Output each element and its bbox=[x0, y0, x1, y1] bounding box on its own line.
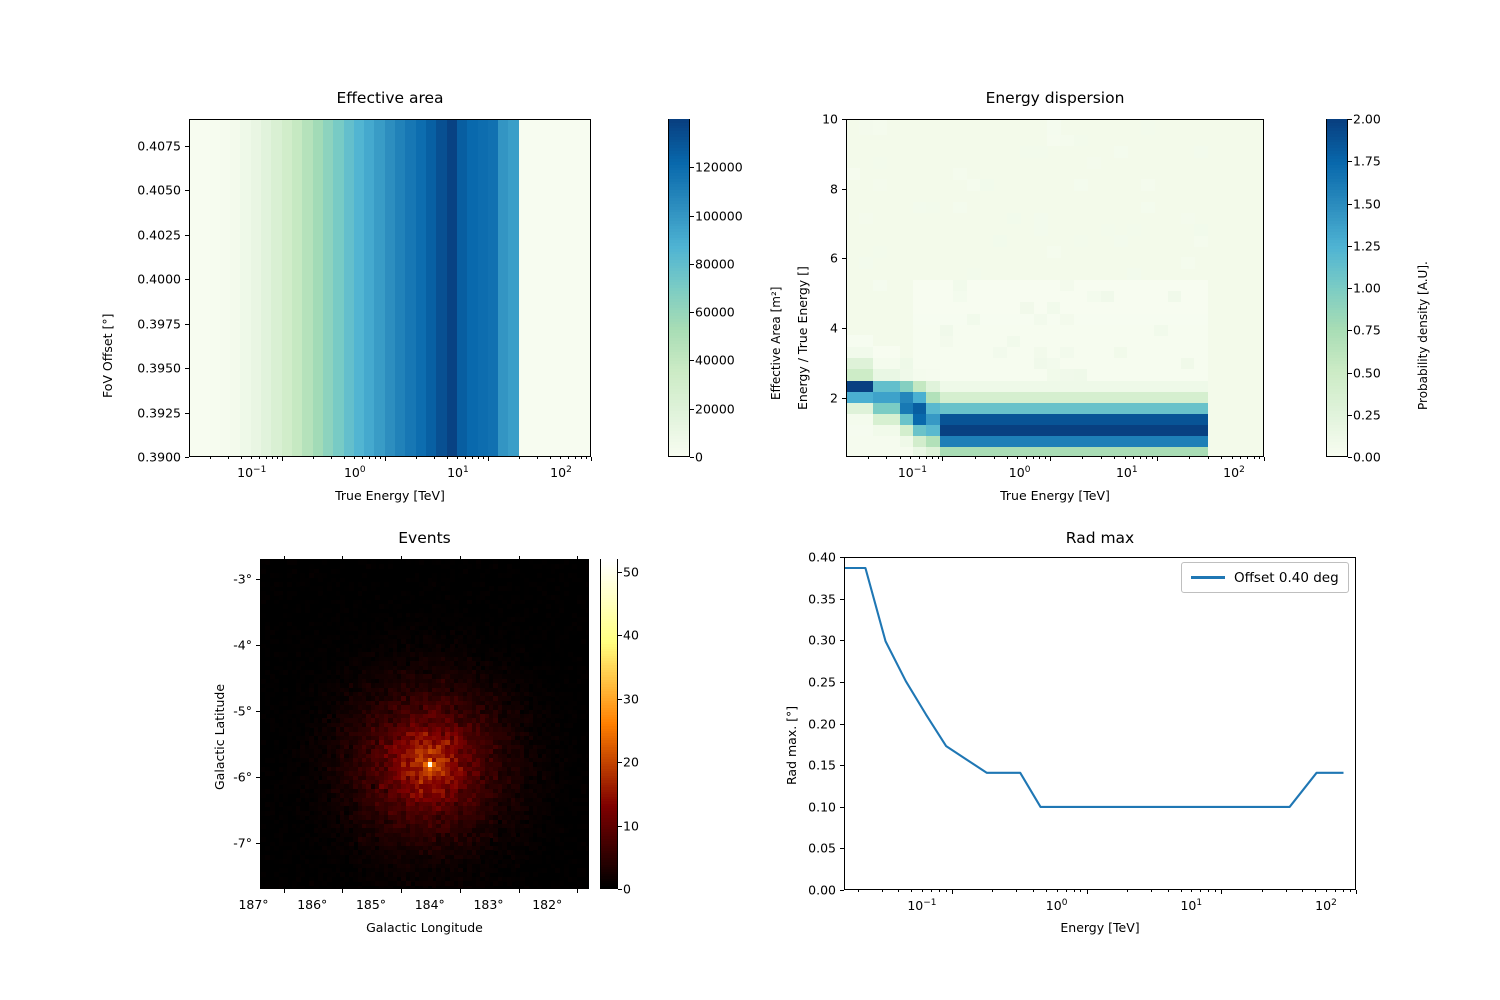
energy-dispersion-cell bbox=[1101, 369, 1115, 381]
events-pixel bbox=[537, 564, 542, 569]
energy-dispersion-cell bbox=[1154, 358, 1168, 370]
effective-area-colorbar-tick-label: 60000 bbox=[695, 305, 765, 320]
energy-dispersion-cell bbox=[1060, 335, 1074, 347]
energy-dispersion-cell bbox=[846, 447, 860, 457]
energy-dispersion-cell bbox=[873, 120, 887, 135]
rad-max-xlabel: Energy [TeV] bbox=[844, 920, 1356, 935]
energy-dispersion-cell bbox=[1007, 335, 1021, 347]
events-pixel bbox=[564, 639, 569, 644]
energy-dispersion-cell bbox=[1047, 425, 1061, 437]
energy-dispersion-colorbar-tick-mark bbox=[1348, 415, 1352, 416]
events-pixel bbox=[261, 824, 266, 829]
energy-dispersion-cell bbox=[1114, 391, 1128, 403]
energy-dispersion-cell bbox=[953, 436, 967, 448]
events-colorbar-tick-label: 10 bbox=[623, 818, 663, 833]
energy-dispersion-cell bbox=[1141, 391, 1155, 403]
events-pixel bbox=[274, 820, 279, 825]
events-pixel bbox=[270, 771, 275, 776]
effective-area-bin bbox=[302, 120, 313, 456]
effective-area-colorbar-tick-mark bbox=[690, 312, 694, 313]
energy-dispersion-cell bbox=[1181, 313, 1195, 325]
energy-dispersion-cell bbox=[900, 391, 914, 403]
energy-dispersion-cell bbox=[1194, 380, 1208, 392]
effective-area-xtick-minor bbox=[354, 457, 355, 459]
energy-dispersion-cell bbox=[913, 280, 927, 292]
energy-dispersion-xtick-minor bbox=[919, 457, 920, 459]
energy-dispersion-cell bbox=[993, 346, 1007, 358]
energy-dispersion-cell bbox=[926, 324, 940, 336]
effective-area-xtick-mark bbox=[591, 457, 592, 461]
energy-dispersion-cell bbox=[1101, 291, 1115, 303]
energy-dispersion-cell bbox=[993, 280, 1007, 292]
events-pixel bbox=[314, 600, 319, 605]
events-ytick-label: -6° bbox=[212, 769, 252, 784]
rad-max-ytick-mark bbox=[840, 765, 844, 766]
energy-dispersion-xtick-minor bbox=[1033, 457, 1034, 459]
effective-area-bin bbox=[282, 120, 293, 456]
energy-dispersion-cell bbox=[1181, 358, 1195, 370]
energy-dispersion-cell bbox=[913, 358, 927, 370]
energy-dispersion-cell bbox=[1074, 413, 1088, 425]
events-pixel bbox=[265, 886, 270, 889]
energy-dispersion-cell bbox=[913, 413, 927, 425]
energy-dispersion-cell bbox=[1060, 369, 1074, 381]
energy-dispersion-cell bbox=[940, 324, 954, 336]
energy-dispersion-colorbar-label: Probability density [A.U]. bbox=[1416, 261, 1430, 410]
energy-dispersion-cell bbox=[886, 413, 900, 425]
energy-dispersion-cell bbox=[1060, 425, 1074, 437]
rad-max-ytick-label: 0.05 bbox=[782, 841, 836, 856]
events-pixel bbox=[537, 859, 542, 864]
energy-dispersion-cell bbox=[1181, 346, 1195, 358]
energy-dispersion-cell bbox=[993, 380, 1007, 392]
events-pixel bbox=[261, 600, 266, 605]
energy-dispersion-cell bbox=[1141, 380, 1155, 392]
energy-dispersion-cell bbox=[1101, 425, 1115, 437]
events-pixel bbox=[568, 723, 573, 728]
effective-area-bin bbox=[189, 120, 200, 456]
events-colorbar-tick-label: 20 bbox=[623, 755, 663, 770]
energy-dispersion-cell bbox=[1181, 402, 1195, 414]
energy-dispersion-colorbar-tick-label: 2.00 bbox=[1353, 112, 1413, 127]
energy-dispersion-cell bbox=[873, 391, 887, 403]
energy-dispersion-cell bbox=[1034, 313, 1048, 325]
rad-max-ytick-mark bbox=[840, 557, 844, 558]
energy-dispersion-cell bbox=[1020, 335, 1034, 347]
energy-dispersion-cell bbox=[1074, 313, 1088, 325]
energy-dispersion-cell bbox=[859, 369, 873, 381]
energy-dispersion-colorbar-tick-mark bbox=[1348, 288, 1352, 289]
events-pixel bbox=[564, 886, 569, 889]
effective-area-ylabel: FoV Offset [°] bbox=[100, 314, 115, 398]
effective-area-bin bbox=[498, 120, 509, 456]
effective-area-bin bbox=[199, 120, 210, 456]
rad-max-series-line bbox=[845, 568, 1344, 807]
events-ytick-mark bbox=[256, 579, 260, 580]
events-xtick-mark-top bbox=[284, 556, 285, 560]
energy-dispersion-colorbar-tick-mark bbox=[1348, 330, 1352, 331]
events-pixel bbox=[419, 560, 424, 565]
events-pixel bbox=[388, 886, 393, 889]
events-pixel bbox=[586, 595, 589, 600]
events-plot-area bbox=[260, 559, 589, 889]
energy-dispersion-cell bbox=[953, 358, 967, 370]
energy-dispersion-cell bbox=[1154, 413, 1168, 425]
energy-dispersion-cell bbox=[1168, 358, 1182, 370]
energy-dispersion-cell bbox=[859, 402, 873, 414]
energy-dispersion-cell bbox=[846, 380, 860, 392]
events-pixel bbox=[406, 600, 411, 605]
events-xtick-mark-top bbox=[460, 556, 461, 560]
energy-dispersion-cell bbox=[1034, 335, 1048, 347]
energy-dispersion-cell bbox=[1074, 358, 1088, 370]
effective-area-bin bbox=[323, 120, 334, 456]
energy-dispersion-cell bbox=[1168, 425, 1182, 437]
energy-dispersion-cell bbox=[1060, 324, 1074, 336]
events-pixel bbox=[480, 582, 485, 587]
effective-area-bin bbox=[519, 120, 530, 456]
events-pixel bbox=[265, 560, 270, 565]
energy-dispersion-cell bbox=[1020, 302, 1034, 314]
events-pixel bbox=[375, 582, 380, 587]
energy-dispersion-ytick-mark bbox=[842, 258, 846, 259]
energy-dispersion-cell bbox=[846, 346, 860, 358]
effective-area-xtick-minor bbox=[266, 457, 267, 459]
events-pixel bbox=[467, 564, 472, 569]
energy-dispersion-cell bbox=[1087, 402, 1101, 414]
energy-dispersion-cell bbox=[873, 369, 887, 381]
energy-dispersion-xtick-minor bbox=[1189, 457, 1190, 459]
events-pixel bbox=[559, 564, 564, 569]
energy-dispersion-title: Energy dispersion bbox=[846, 89, 1264, 107]
energy-dispersion-cell bbox=[993, 335, 1007, 347]
energy-dispersion-cell bbox=[1114, 235, 1128, 247]
effective-area-ytick-mark bbox=[185, 324, 189, 325]
events-pixel bbox=[279, 657, 284, 662]
events-pixel bbox=[283, 881, 288, 886]
energy-dispersion-cell bbox=[926, 369, 940, 381]
events-pixel bbox=[511, 886, 516, 889]
events-pixel bbox=[366, 600, 371, 605]
energy-dispersion-cell bbox=[1114, 369, 1128, 381]
energy-dispersion-cell bbox=[1114, 313, 1128, 325]
events-xtick-mark bbox=[401, 889, 402, 893]
events-pixel bbox=[586, 608, 589, 613]
effective-area-xtick-minor bbox=[228, 457, 229, 459]
energy-dispersion-cell bbox=[1101, 280, 1115, 292]
effective-area-colorbar-tick-mark bbox=[690, 360, 694, 361]
energy-dispersion-cell bbox=[1034, 346, 1048, 358]
effective-area-bin bbox=[447, 120, 458, 456]
energy-dispersion-cell bbox=[993, 447, 1007, 457]
energy-dispersion-xtick-minor bbox=[1125, 457, 1126, 459]
energy-dispersion-cell bbox=[1194, 447, 1208, 457]
events-pixel bbox=[586, 674, 589, 679]
events-pixel bbox=[476, 564, 481, 569]
energy-dispersion-cell bbox=[1087, 291, 1101, 303]
energy-dispersion-cell bbox=[1114, 291, 1128, 303]
energy-dispersion-cell bbox=[900, 413, 914, 425]
energy-dispersion-cell bbox=[1141, 447, 1155, 457]
events-pixel bbox=[559, 855, 564, 860]
energy-dispersion-cell bbox=[913, 425, 927, 437]
effective-area-bin bbox=[457, 120, 468, 456]
energy-dispersion-cell bbox=[1060, 291, 1074, 303]
effective-area-title: Effective area bbox=[189, 89, 591, 107]
effective-area-xtick-minor bbox=[277, 457, 278, 459]
energy-dispersion-cell bbox=[913, 447, 927, 457]
events-pixel bbox=[283, 868, 288, 873]
energy-dispersion-cell bbox=[886, 346, 900, 358]
energy-dispersion-cell bbox=[1127, 447, 1141, 457]
energy-dispersion-ytick-label: 6 bbox=[798, 251, 838, 266]
energy-dispersion-cell bbox=[1101, 302, 1115, 314]
events-pixel bbox=[572, 564, 577, 569]
events-pixel bbox=[546, 604, 551, 609]
effective-area-xtick-minor bbox=[568, 457, 569, 459]
energy-dispersion-cell bbox=[1154, 313, 1168, 325]
energy-dispersion-cell bbox=[1114, 413, 1128, 425]
energy-dispersion-cell bbox=[940, 313, 954, 325]
effective-area-xtick-minor bbox=[331, 457, 332, 459]
energy-dispersion-cell bbox=[886, 447, 900, 457]
events-pixel bbox=[559, 608, 564, 613]
events-pixel bbox=[265, 595, 270, 600]
energy-dispersion-cell bbox=[1168, 436, 1182, 448]
events-pixel bbox=[371, 586, 376, 591]
energy-dispersion-cell bbox=[926, 436, 940, 448]
energy-dispersion-cell bbox=[1114, 436, 1128, 448]
effective-area-bin bbox=[508, 120, 519, 456]
energy-dispersion-cell bbox=[859, 213, 873, 225]
energy-dispersion-cell bbox=[1154, 324, 1168, 336]
energy-dispersion-cell bbox=[953, 346, 967, 358]
energy-dispersion-cell bbox=[913, 335, 927, 347]
energy-dispersion-xtick-label: 102 bbox=[1204, 465, 1264, 480]
events-ytick-mark bbox=[256, 645, 260, 646]
energy-dispersion-cell bbox=[953, 202, 967, 214]
energy-dispersion-cell bbox=[1194, 335, 1208, 347]
events-pixel bbox=[445, 586, 450, 591]
events-pixel bbox=[274, 688, 279, 693]
energy-dispersion-cell bbox=[1127, 425, 1141, 437]
events-pixel bbox=[292, 569, 297, 574]
energy-dispersion-cell bbox=[940, 369, 954, 381]
events-pixel bbox=[261, 872, 266, 877]
rad-max-ytick-mark bbox=[840, 682, 844, 683]
energy-dispersion-cell bbox=[1194, 346, 1208, 358]
energy-dispersion-cell bbox=[1060, 402, 1074, 414]
events-pixel bbox=[283, 701, 288, 706]
energy-dispersion-cell bbox=[980, 413, 994, 425]
events-pixel bbox=[331, 872, 336, 877]
energy-dispersion-cell bbox=[1034, 436, 1048, 448]
events-pixel bbox=[537, 670, 542, 675]
energy-dispersion-cell bbox=[926, 402, 940, 414]
energy-dispersion-cell bbox=[1101, 324, 1115, 336]
energy-dispersion-cell bbox=[1074, 391, 1088, 403]
effective-area-xtick-mark bbox=[488, 457, 489, 461]
rad-max-ytick-label: 0.35 bbox=[782, 591, 836, 606]
events-pixel bbox=[507, 586, 512, 591]
energy-dispersion-cell bbox=[967, 436, 981, 448]
energy-dispersion-cell bbox=[1034, 369, 1048, 381]
events-xtick-mark bbox=[460, 889, 461, 893]
events-xtick-mark bbox=[342, 889, 343, 893]
energy-dispersion-xtick-minor bbox=[910, 457, 911, 459]
events-pixel bbox=[542, 868, 547, 873]
energy-dispersion-cell bbox=[953, 425, 967, 437]
effective-area-plot-area bbox=[189, 119, 591, 457]
energy-dispersion-cell bbox=[967, 179, 981, 191]
energy-dispersion-colorbar-tick-label: 1.75 bbox=[1353, 154, 1413, 169]
energy-dispersion-cell bbox=[980, 280, 994, 292]
effective-area-ytick-label: 0.4050 bbox=[119, 183, 181, 198]
energy-dispersion-cell bbox=[1194, 358, 1208, 370]
effective-area-ytick-mark bbox=[185, 190, 189, 191]
energy-dispersion-cell bbox=[953, 402, 967, 414]
energy-dispersion-cell bbox=[1141, 179, 1155, 191]
energy-dispersion-ytick-label: 4 bbox=[798, 321, 838, 336]
events-pixel bbox=[358, 886, 363, 889]
events-pixel bbox=[581, 789, 586, 794]
energy-dispersion-cell bbox=[953, 324, 967, 336]
energy-dispersion-cell bbox=[940, 447, 954, 457]
effective-area-ytick-label: 0.4025 bbox=[119, 227, 181, 242]
energy-dispersion-cell bbox=[967, 335, 981, 347]
effective-area-xtick-minor bbox=[483, 457, 484, 459]
energy-dispersion-cell bbox=[1034, 213, 1048, 225]
events-pixel bbox=[533, 648, 538, 653]
events-pixel bbox=[551, 578, 556, 583]
events-pixel bbox=[555, 868, 560, 873]
energy-dispersion-cell bbox=[980, 358, 994, 370]
events-pixel bbox=[309, 657, 314, 662]
energy-dispersion-cell bbox=[980, 335, 994, 347]
energy-dispersion-cell bbox=[926, 358, 940, 370]
events-pixel bbox=[485, 591, 490, 596]
events-pixel bbox=[270, 692, 275, 697]
energy-dispersion-cell bbox=[993, 369, 1007, 381]
effective-area-ytick-mark bbox=[185, 146, 189, 147]
effective-area-bin bbox=[395, 120, 406, 456]
energy-dispersion-cell bbox=[967, 313, 981, 325]
events-ytick-label: -4° bbox=[212, 637, 252, 652]
energy-dispersion-cell bbox=[1047, 280, 1061, 292]
energy-dispersion-cell bbox=[1074, 280, 1088, 292]
events-pixel bbox=[564, 828, 569, 833]
energy-dispersion-colorbar bbox=[1326, 119, 1348, 457]
events-pixel bbox=[586, 582, 589, 587]
energy-dispersion-cell bbox=[1194, 313, 1208, 325]
events-pixel bbox=[340, 564, 345, 569]
effective-area-xtick-minor bbox=[380, 457, 381, 459]
rad-max-title: Rad max bbox=[844, 529, 1356, 547]
rad-max-line-svg bbox=[845, 558, 1356, 890]
energy-dispersion-cell bbox=[953, 380, 967, 392]
energy-dispersion-cell bbox=[1087, 157, 1101, 169]
energy-dispersion-cell bbox=[1181, 425, 1195, 437]
energy-dispersion-cell bbox=[1074, 324, 1088, 336]
events-pixel bbox=[265, 652, 270, 657]
energy-dispersion-cell bbox=[1007, 369, 1021, 381]
energy-dispersion-cell bbox=[1127, 380, 1141, 392]
legend-line-swatch bbox=[1191, 576, 1225, 578]
energy-dispersion-cell bbox=[1034, 402, 1048, 414]
energy-dispersion-cell bbox=[1114, 358, 1128, 370]
energy-dispersion-cell bbox=[1168, 313, 1182, 325]
energy-dispersion-cell bbox=[1047, 380, 1061, 392]
energy-dispersion-cell bbox=[1181, 302, 1195, 314]
events-pixel bbox=[586, 798, 589, 803]
energy-dispersion-cell bbox=[1194, 224, 1208, 236]
energy-dispersion-cell bbox=[859, 335, 873, 347]
effective-area-bin bbox=[529, 120, 540, 456]
energy-dispersion-cell bbox=[1194, 369, 1208, 381]
events-pixel bbox=[564, 582, 569, 587]
energy-dispersion-cell bbox=[980, 179, 994, 191]
effective-area-colorbar-label: Effective Area [m²] bbox=[769, 287, 783, 400]
effective-area-xtick-mark bbox=[385, 457, 386, 461]
energy-dispersion-cell bbox=[1141, 335, 1155, 347]
energy-dispersion-cell bbox=[1127, 324, 1141, 336]
energy-dispersion-cell bbox=[926, 391, 940, 403]
effective-area-bin bbox=[230, 120, 241, 456]
effective-area-colorbar-tick-label: 120000 bbox=[695, 160, 765, 175]
energy-dispersion-xtick-mark bbox=[1157, 457, 1158, 461]
energy-dispersion-cell bbox=[1007, 302, 1021, 314]
events-pixel bbox=[261, 776, 266, 781]
events-xtick-label: 187° bbox=[224, 897, 284, 912]
energy-dispersion-cell bbox=[1168, 335, 1182, 347]
effective-area-bin bbox=[210, 120, 221, 456]
energy-dispersion-colorbar-tick-label: 1.25 bbox=[1353, 238, 1413, 253]
effective-area-bin bbox=[240, 120, 251, 456]
effective-area-bin bbox=[354, 120, 365, 456]
energy-dispersion-cell bbox=[1087, 324, 1101, 336]
energy-dispersion-cell bbox=[1074, 369, 1088, 381]
energy-dispersion-cell bbox=[1114, 447, 1128, 457]
rad-max-ytick-label: 0.00 bbox=[782, 883, 836, 898]
energy-dispersion-xtick-minor bbox=[926, 457, 927, 459]
energy-dispersion-colorbar-tick-mark bbox=[1348, 373, 1352, 374]
events-pixel bbox=[283, 798, 288, 803]
energy-dispersion-cell bbox=[926, 335, 940, 347]
energy-dispersion-cell bbox=[1060, 135, 1074, 147]
energy-dispersion-cell bbox=[1168, 413, 1182, 425]
energy-dispersion-cell bbox=[886, 391, 900, 403]
energy-dispersion-cell bbox=[873, 179, 887, 191]
events-pixel bbox=[371, 564, 376, 569]
energy-dispersion-cell bbox=[913, 369, 927, 381]
effective-area-ytick-mark bbox=[185, 279, 189, 280]
energy-dispersion-cell bbox=[873, 246, 887, 258]
effective-area-bin bbox=[344, 120, 355, 456]
events-title: Events bbox=[260, 529, 589, 547]
energy-dispersion-cell bbox=[846, 335, 860, 347]
energy-dispersion-cell bbox=[859, 413, 873, 425]
events-pixel bbox=[279, 595, 284, 600]
effective-area-xtick-minor bbox=[369, 457, 370, 459]
events-pixel bbox=[283, 688, 288, 693]
events-pixel bbox=[300, 872, 305, 877]
energy-dispersion-cell bbox=[980, 302, 994, 314]
events-colorbar-tick-mark bbox=[618, 635, 622, 636]
energy-dispersion-cell bbox=[1087, 346, 1101, 358]
events-pixel bbox=[551, 670, 556, 675]
events-pixel bbox=[384, 582, 389, 587]
energy-dispersion-xtick-label: 10−1 bbox=[882, 465, 942, 480]
